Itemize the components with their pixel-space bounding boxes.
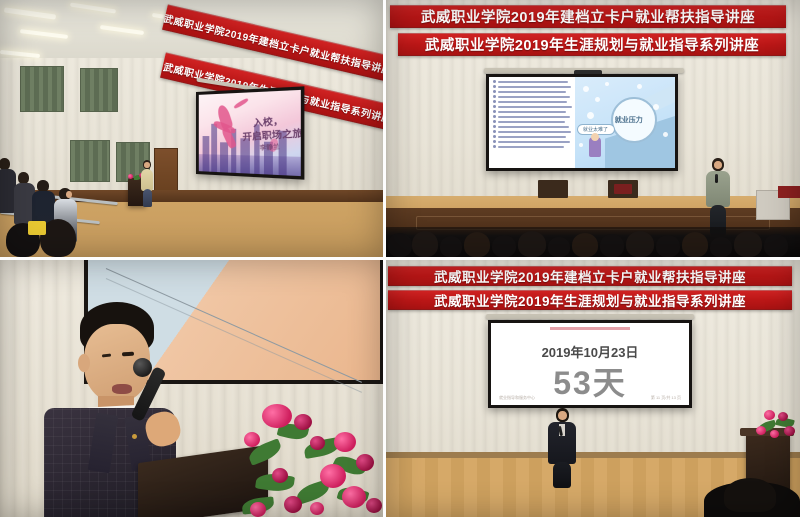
screen-roller (486, 314, 694, 319)
photo-top-left: 武威职业学院2019年建档立卡户就业帮扶指导讲座 武威职业学院2019年生涯规划… (0, 0, 383, 257)
photo-top-right: 武威职业学院2019年建档立卡户就业帮扶指导讲座 武威职业学院2019年生涯规划… (386, 0, 800, 257)
photo-bottom-left (0, 260, 383, 517)
flower-arrangement (754, 408, 800, 442)
projection-screen: 就业压力 就业太难了 (486, 74, 678, 171)
photo-collage: 武威职业学院2019年建档立卡户就业帮扶指导讲座 武威职业学院2019年生涯规划… (0, 0, 800, 517)
projection-screen: 入校， 开启职场之旅 李静兰 (196, 86, 304, 179)
flower-arrangement (238, 402, 383, 517)
audience (386, 227, 800, 257)
slide-illustration: 就业压力 就业太难了 (575, 77, 675, 168)
slide-title: 入校， 开启职场之旅 李静兰 (199, 90, 301, 176)
slide-footer-right: 第 11 页/共 13 页 (651, 395, 681, 401)
mouth (112, 384, 132, 394)
lapel-pin (132, 434, 137, 439)
slide-line3: 李静兰 (259, 141, 280, 152)
slide-footer: 就业指导和服务中心 第 11 页/共 13 页 (491, 395, 689, 401)
slide-countdown: 2019年10月23日 53天 就业指导和服务中心 第 11 页/共 13 页 (491, 323, 689, 405)
audience-head (724, 478, 776, 512)
yellow-bag (28, 221, 46, 235)
speaker (706, 158, 730, 236)
audience-left (0, 158, 90, 257)
eye (122, 352, 134, 357)
slide-employment-pressure: 就业压力 就业太难了 (489, 77, 675, 168)
slide-accent-rule (550, 327, 629, 330)
banner-secondary: 武威职业学院2019年生涯规划与就业指导系列讲座 (398, 33, 786, 56)
projection-screen: 2019年10月23日 53天 就业指导和服务中心 第 11 页/共 13 页 (488, 320, 692, 408)
slide-date: 2019年10月23日 (542, 342, 639, 361)
slide-bullets (489, 77, 575, 168)
side-door (154, 148, 178, 196)
banner-primary: 武威职业学院2019年建档立卡户就业帮扶指导讲座 (390, 5, 786, 28)
stage-edge (386, 452, 800, 458)
photo-bottom-right: 武威职业学院2019年建档立卡户就业帮扶指导讲座 武威职业学院2019年生涯规划… (386, 260, 800, 517)
window-curtain (20, 66, 64, 112)
speaker (548, 408, 576, 488)
slide-footer-left: 就业指导和服务中心 (499, 395, 535, 401)
banner-primary: 武威职业学院2019年建档立卡户就业帮扶指导讲座 (388, 266, 792, 286)
window-curtain (80, 68, 118, 112)
presenter (140, 160, 154, 208)
red-box (614, 184, 632, 194)
stage-table (538, 180, 568, 198)
red-object (778, 186, 800, 198)
slide-label-pressure: 就业压力 (615, 115, 643, 125)
banner-secondary: 武威职业学院2019年生涯规划与就业指导系列讲座 (388, 290, 792, 310)
microphone-head (133, 358, 152, 377)
